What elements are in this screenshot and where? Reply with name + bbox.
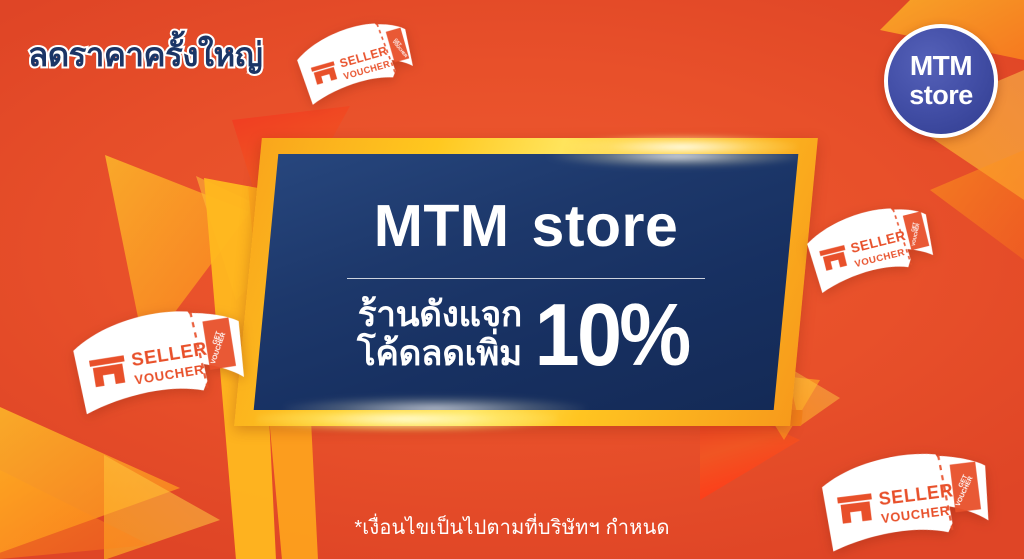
logo-line-2: store [909, 81, 973, 111]
offer-line-2: โค้ดลดเพิ่ม [357, 334, 522, 373]
divider [347, 278, 705, 280]
logo-line-1: MTM [910, 51, 972, 80]
brand-title-part1: MTM [374, 193, 510, 259]
page-title: ลดราคาครั้งใหญ่ [28, 28, 262, 81]
offer-text: ร้านดังแจก โค้ดลดเพิ่ม [357, 295, 522, 373]
logo-badge[interactable]: MTM store [884, 24, 998, 138]
discount-value: 10% [535, 296, 689, 373]
brand-title-part2: store [532, 193, 679, 259]
offer-line-1: ร้านดังแจก [357, 295, 522, 334]
offer-panel: MTMstore ร้านดังแจก โค้ดลดเพิ่ม 10% [248, 138, 804, 438]
offer-row: ร้านดังแจก โค้ดลดเพิ่ม 10% [357, 295, 695, 373]
brand-title: MTMstore [374, 197, 679, 256]
panel-content: MTMstore ร้านดังแจก โค้ดลดเพิ่ม 10% [266, 154, 786, 410]
promo-banner: ลดราคาครั้งใหญ่ MTMstore ร้านดังแจก โค้ด… [0, 0, 1024, 559]
